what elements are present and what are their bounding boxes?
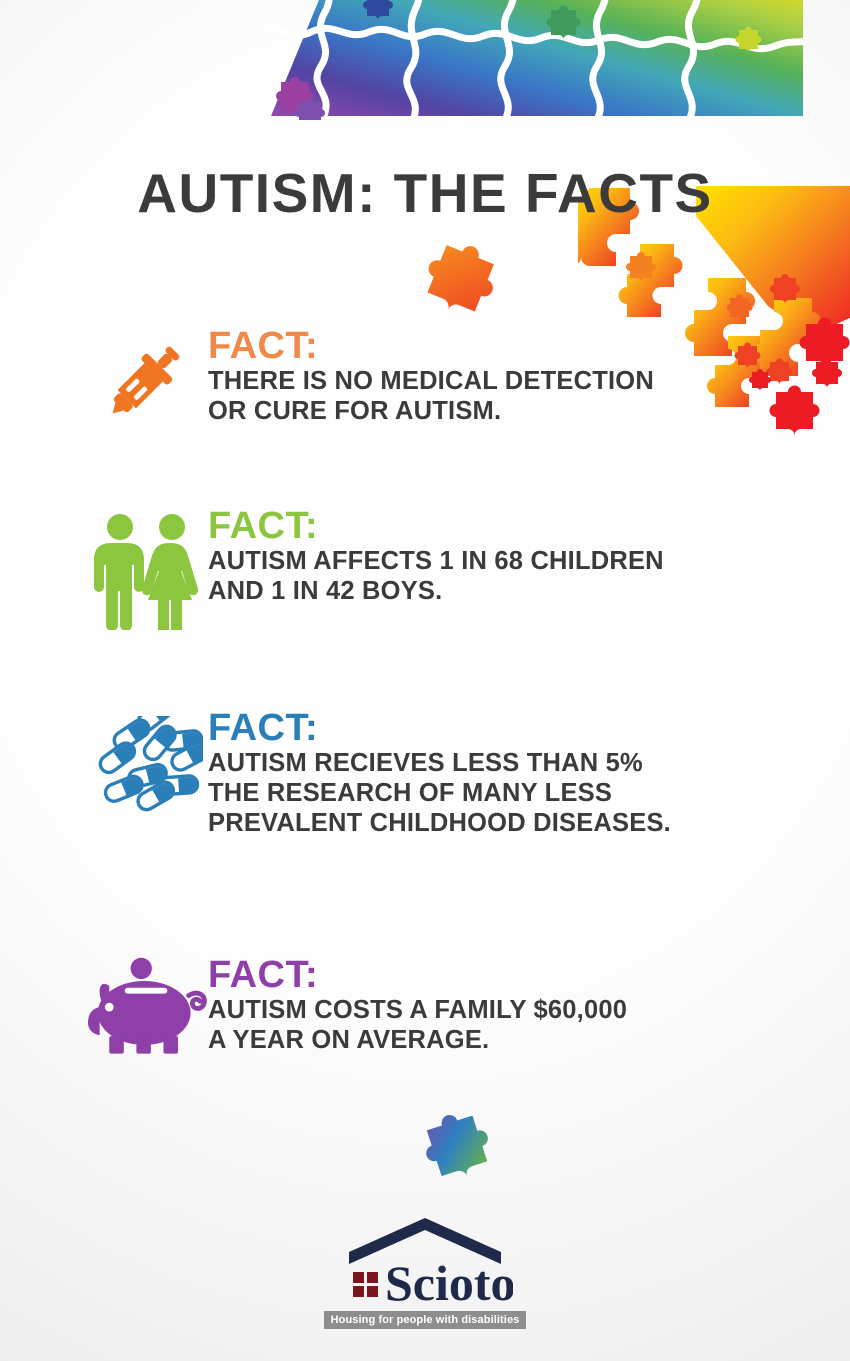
- fact-3-line-2: THE RESEARCH OF MANY LESS: [208, 779, 808, 809]
- logo-tagline: Housing for people with disabilities: [324, 1311, 527, 1329]
- fact-1-label: FACT:: [208, 328, 808, 365]
- scioto-logo: Scioto: [337, 1216, 513, 1308]
- fact-1-line-1: THERE IS NO MEDICAL DETECTION: [208, 367, 808, 397]
- fact-1-body: FACT: THERE IS NO MEDICAL DETECTION OR C…: [208, 326, 808, 427]
- fact-1-text: THERE IS NO MEDICAL DETECTION OR CURE FO…: [208, 367, 808, 427]
- fact-2-line-1: AUTISM AFFECTS 1 IN 68 CHILDREN: [208, 547, 808, 577]
- fact-item-3: FACT: AUTISM RECIEVES LESS THAN 5% THE R…: [88, 708, 808, 839]
- piggy-bank-icon: [88, 955, 208, 1067]
- fact-3-line-3: PREVALENT CHILDHOOD DISEASES.: [208, 809, 808, 839]
- fact-2-line-2: AND 1 IN 42 BOYS.: [208, 577, 808, 607]
- fact-4-body: FACT: AUTISM COSTS A FAMILY $60,000 A YE…: [208, 955, 808, 1056]
- fact-4-text: AUTISM COSTS A FAMILY $60,000 A YEAR ON …: [208, 996, 808, 1056]
- fact-item-2: FACT: AUTISM AFFECTS 1 IN 68 CHILDREN AN…: [88, 506, 808, 630]
- rainbow-puzzle-band-decoration: [263, 0, 803, 120]
- fact-4-label: FACT:: [208, 957, 808, 994]
- fact-3-label: FACT:: [208, 710, 808, 747]
- people-icon: [94, 510, 202, 630]
- fact-3-text: AUTISM RECIEVES LESS THAN 5% THE RESEARC…: [208, 749, 808, 838]
- blue-green-puzzle-piece-decoration: [414, 1112, 500, 1186]
- infographic-poster: AUTISM: THE FACTS FACT: THERE IS NO M: [0, 0, 850, 1361]
- fact-2-text: AUTISM AFFECTS 1 IN 68 CHILDREN AND 1 IN…: [208, 547, 808, 607]
- orange-puzzle-piece-decoration: [412, 242, 504, 320]
- fact-4-line-1: AUTISM COSTS A FAMILY $60,000: [208, 996, 808, 1026]
- fact-1-line-2: OR CURE FOR AUTISM.: [208, 397, 808, 427]
- pills-icon: [93, 716, 203, 816]
- fact-3-line-1: AUTISM RECIEVES LESS THAN 5%: [208, 749, 808, 779]
- fact-item-1: FACT: THERE IS NO MEDICAL DETECTION OR C…: [88, 326, 808, 427]
- fact-2-label: FACT:: [208, 508, 808, 545]
- fact-1-icon-wrap: [88, 326, 208, 424]
- footer-logo-block: Scioto Housing for people with disabilit…: [0, 1216, 850, 1329]
- syringe-icon: [96, 332, 200, 424]
- fact-3-body: FACT: AUTISM RECIEVES LESS THAN 5% THE R…: [208, 708, 808, 839]
- fact-2-body: FACT: AUTISM AFFECTS 1 IN 68 CHILDREN AN…: [208, 506, 808, 607]
- fact-3-icon-wrap: [88, 708, 208, 816]
- fact-4-icon-wrap: [88, 955, 208, 1067]
- fact-2-icon-wrap: [88, 506, 208, 630]
- fact-4-line-2: A YEAR ON AVERAGE.: [208, 1026, 808, 1056]
- fact-item-4: FACT: AUTISM COSTS A FAMILY $60,000 A YE…: [88, 955, 808, 1067]
- page-title: AUTISM: THE FACTS: [0, 161, 850, 225]
- logo-wordmark: Scioto: [385, 1255, 513, 1308]
- window-grid-icon: [353, 1272, 378, 1297]
